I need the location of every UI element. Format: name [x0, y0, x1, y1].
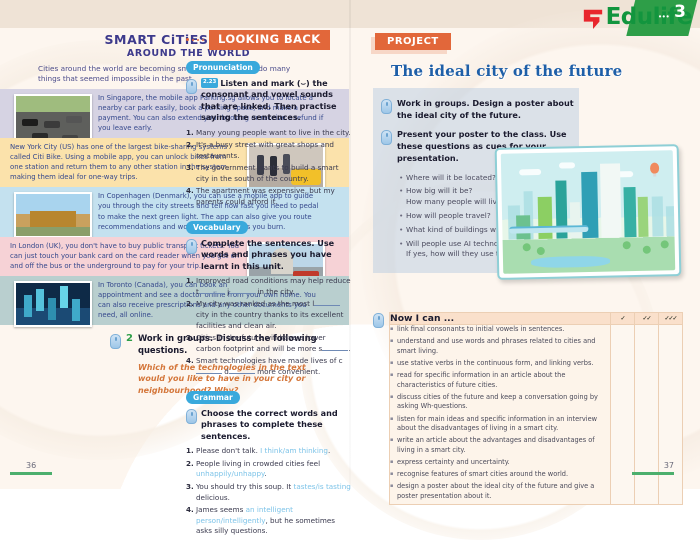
now-i-can-section: Now I can ... ✓ ✓✓ ✓✓✓ link final conson…: [373, 312, 683, 505]
list-item: read for specific information in an arti…: [390, 371, 610, 390]
column-check-1: ✓: [611, 313, 635, 325]
now-i-can-items-cell: link final consonants to initial vowels …: [390, 325, 611, 505]
page-number-value: 36: [26, 461, 36, 470]
looking-back-column: LOOKING BACK Pronunciation 2.23Listen an…: [186, 30, 351, 546]
answer-blank[interactable]: [196, 373, 222, 374]
mouse-icon: [373, 313, 384, 328]
singapore-car-park-photo: [14, 94, 92, 140]
pronunciation-task: 2.23Listen and mark (⌣) the consonant an…: [186, 78, 351, 124]
pill-grammar: Grammar: [186, 391, 240, 404]
item-text: d: [222, 367, 229, 376]
item-text: j: [225, 287, 229, 296]
item-text: city in the country thanks to its excell…: [196, 310, 343, 330]
answer-blank[interactable]: [314, 305, 340, 306]
list-item: 2.People living in crowded cities feel u…: [186, 459, 351, 481]
item-text: The apartment was expensive, but my pare…: [196, 186, 335, 206]
list-item: discuss cities of the future and keep a …: [390, 393, 610, 412]
answer-blank[interactable]: [199, 293, 225, 294]
list-item: understand and use words and phrases rel…: [390, 337, 610, 356]
pill-pronunciation: Pronunciation: [186, 61, 260, 74]
list-item: write an article about the advantages an…: [390, 436, 610, 455]
vocabulary-items: 1.Improved road conditions may help redu…: [186, 276, 351, 378]
unit-dots-icon: •••: [659, 12, 670, 21]
item-text: James seems: [196, 505, 246, 514]
f-mark-icon: [582, 7, 604, 29]
grammar-option[interactable]: unhappily/unhappy: [196, 469, 264, 478]
audio-track-badge[interactable]: 2.23: [201, 78, 218, 88]
self-assess-column-2[interactable]: [635, 325, 659, 505]
looking-back-banner: LOOKING BACK: [186, 30, 351, 50]
item-text: Please don't talk.: [196, 446, 260, 455]
pill-vocabulary: Vocabulary: [186, 221, 248, 234]
pronunciation-items: 1.Many young people want to live in the …: [186, 128, 351, 208]
mouse-icon: [186, 239, 197, 254]
mouse-icon: [186, 79, 197, 94]
list-item: design a poster about the ideal city of …: [390, 482, 610, 501]
list-item: 2.It's a busy street with great shops an…: [186, 140, 351, 162]
project-banner: PROJECT: [375, 33, 451, 50]
item-text: .: [328, 446, 330, 455]
column-check-3: ✓✓✓: [659, 313, 683, 325]
table-row: link final consonants to initial vowels …: [390, 325, 683, 505]
mouse-icon: [110, 334, 121, 349]
item-text: You should try this soup. It: [196, 482, 294, 491]
answer-blank[interactable]: [229, 293, 255, 294]
item-text: delicious.: [196, 493, 230, 502]
list-item: 2.My city was ranked as the most l city …: [186, 299, 351, 331]
mouse-icon: [381, 99, 392, 114]
looking-back-label: LOOKING BACK: [209, 30, 330, 50]
item-text: People living in crowded cities feel: [196, 459, 320, 468]
list-item: 4.James seems an intelligent person/inte…: [186, 505, 351, 537]
hot-air-balloon-icon: [650, 163, 659, 174]
list-item: 4.Smart technologies have made lives of …: [186, 356, 351, 378]
list-item: use stative verbs in the continuous form…: [390, 359, 610, 369]
copenhagen-city-photo: [14, 192, 92, 238]
item-text: .: [264, 469, 266, 478]
vocabulary-task: Complete the sentences. Use words and ph…: [186, 238, 351, 272]
item-text: The government wants to build a smart ci…: [196, 163, 339, 183]
table-header-row: Now I can ... ✓ ✓✓ ✓✓✓: [390, 313, 683, 325]
mouse-icon: [381, 130, 392, 145]
page-number-right: 37: [618, 461, 674, 475]
list-item: listen for main ideas and specific infor…: [390, 415, 610, 434]
page-number-value: 37: [664, 461, 674, 470]
future-city-poster-image: [501, 150, 675, 274]
list-item: express certainty and uncertainty.: [390, 458, 610, 468]
list-item: 1.Many young people want to live in the …: [186, 128, 351, 139]
item-text: in the city.: [255, 287, 294, 296]
list-item: 4.The apartment was expensive, but my pa…: [186, 186, 351, 208]
item-text: Cities in the future will have a lower c…: [196, 333, 326, 353]
future-city-poster: [495, 144, 682, 280]
grammar-task: Choose the correct words and phrases to …: [186, 408, 351, 442]
answer-blank[interactable]: [229, 373, 255, 374]
list-item: recognise features of smart cities aroun…: [390, 470, 610, 480]
item-text: Many young people want to live in the ci…: [196, 128, 351, 137]
now-i-can-list: link final consonants to initial vowels …: [390, 325, 610, 502]
self-assess-column-1[interactable]: [611, 325, 635, 505]
page-number-rule: [10, 472, 52, 475]
item-text: more convenient.: [255, 367, 320, 376]
column-check-2: ✓✓: [635, 313, 659, 325]
grammar-items: 1.Please don't talk. I think/am thinking…: [186, 446, 351, 537]
grammar-option[interactable]: tastes/is tasting: [294, 482, 351, 491]
list-item: 1.Improved road conditions may help redu…: [186, 276, 351, 298]
textbook-spread: ••• 3 Edulife SMART CiTiES AROUND THE WO…: [0, 0, 700, 489]
task-number: 2: [126, 333, 133, 396]
grammar-option[interactable]: I think/am thinking: [260, 446, 328, 455]
list-item: 3.The government wants to build a smart …: [186, 163, 351, 185]
toronto-skyline-night-photo: [14, 281, 92, 327]
list-item: 3.Cities in the future will have a lower…: [186, 333, 351, 355]
project-task-1: Work in groups. Design a poster about th…: [381, 98, 581, 121]
item-text: My city was ranked as the most l: [196, 299, 314, 308]
now-i-can-table: Now I can ... ✓ ✓✓ ✓✓✓ link final conson…: [389, 312, 683, 505]
page-number-rule: [632, 472, 674, 475]
pronunciation-heading-text: Listen and mark (⌣) the consonant and vo…: [201, 78, 337, 122]
grammar-heading: Choose the correct words and phrases to …: [201, 408, 351, 442]
right-page: PROJECT The ideal city of the future Wor…: [351, 28, 700, 489]
list-item: link final consonants to initial vowels …: [390, 325, 610, 335]
project-task-text: Work in groups. Design a poster about th…: [397, 98, 581, 121]
self-assess-column-3[interactable]: [659, 325, 683, 505]
unit-number: 3: [674, 2, 686, 22]
vocabulary-heading: Complete the sentences. Use words and ph…: [201, 238, 351, 272]
banner-dots-icon: [186, 38, 204, 41]
now-i-can-title: Now I can ...: [390, 313, 611, 325]
list-item: 1.Please don't talk. I think/am thinking…: [186, 446, 351, 457]
answer-blank[interactable]: [322, 350, 348, 351]
river-shape: [530, 256, 609, 269]
list-item: 3.You should try this soup. It tastes/is…: [186, 482, 351, 504]
item-text: Smart technologies have made lives of c: [196, 356, 343, 365]
pronunciation-heading: 2.23Listen and mark (⌣) the consonant an…: [201, 78, 351, 124]
page-number-left: 36: [26, 461, 52, 475]
mouse-icon: [186, 409, 197, 424]
project-title: The ideal city of the future: [391, 62, 700, 80]
item-text: It's a busy street with great shops and …: [196, 140, 334, 160]
